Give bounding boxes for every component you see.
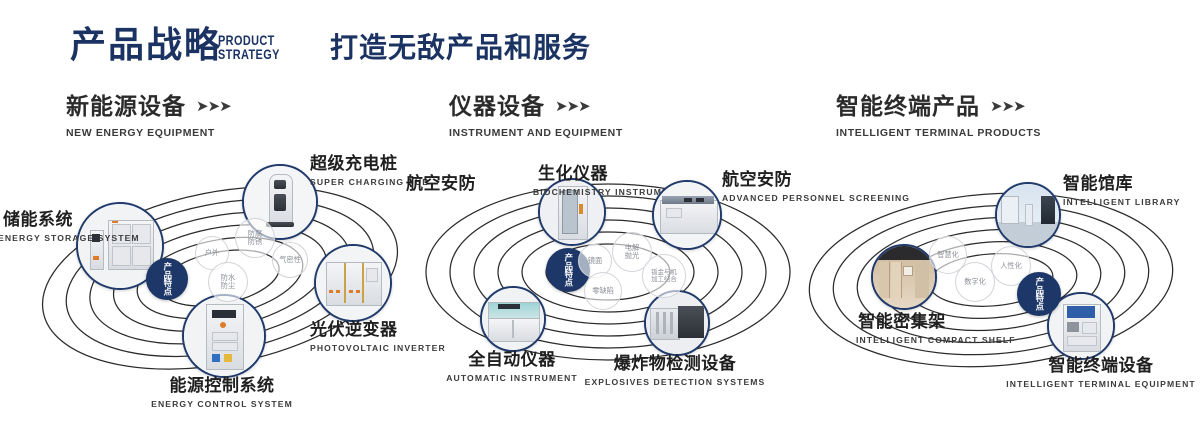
page-title-en-line2: STRATEGY — [218, 47, 280, 61]
feature-bubble-label-t2: 人性化 — [1000, 262, 1022, 270]
feature-bubble-anticorrosion: 防腐防锈 — [235, 218, 275, 258]
label-cn-aviation-security-secondary: 航空安防 — [396, 176, 476, 194]
section-title-cn-0: 新能源设备➤➤➤ — [66, 96, 231, 119]
label-cn-energy-storage-system: 储能系统 — [0, 212, 73, 230]
feature-bubble-zero-defect: 零缺陷 — [584, 272, 622, 310]
label-cn-intelligent-library: 智能馆库 — [1063, 176, 1181, 194]
feature-bubble-label-1: 防腐防锈 — [246, 230, 264, 247]
automatic-instrument-image — [482, 288, 544, 350]
label-cn-energy-control-system: 能源控制系统 — [82, 378, 362, 396]
label-en-intelligent-library: INTELLIGENT LIBRARY — [1063, 197, 1181, 208]
feature-bubble-label-i3: 钣金与机加工结合 — [649, 269, 679, 284]
feature-center-label-terminal: 产品特点 — [1034, 277, 1044, 311]
feature-bubble-label-i0: 镜面 — [588, 257, 602, 265]
label-cn-automatic-instrument: 全自动仪器 — [402, 352, 622, 370]
feature-bubble-label-t0: 智慧化 — [937, 251, 959, 259]
label-en-automatic-instrument: AUTOMATIC INSTRUMENT — [402, 373, 622, 384]
section-title-cn-text-0: 新能源设备 — [66, 94, 186, 120]
photovoltaic-inverter-image — [316, 246, 390, 320]
node-automatic-instrument[interactable] — [480, 286, 546, 352]
section-title-cn-text-1: 仪器设备 — [449, 94, 545, 120]
feature-bubble-label-i2: 零缺陷 — [591, 287, 615, 295]
chevron-right-triple-icon-1: ➤➤➤ — [555, 99, 590, 114]
label-cn-intelligent-compact-shelf: 智能密集架 — [819, 314, 985, 332]
intelligent-compact-shelf-image — [873, 246, 935, 308]
feature-center-product-features[interactable]: 产品特点 — [146, 258, 188, 300]
label-en-biochemistry-instrument: BIOCHEMISTRY INSTRUMENT — [533, 187, 613, 198]
label-en-intelligent-compact-shelf: INTELLIGENT COMPACT SHELF — [856, 335, 948, 346]
feature-center-label: 产品特点 — [162, 262, 172, 296]
node-energy-control-system[interactable] — [182, 294, 266, 378]
feature-bubble-airtightness: 气密性 — [272, 242, 308, 278]
section-title-cn-text-2: 智能终端产品 — [836, 94, 980, 120]
feature-bubble-label-2: 防水防尘 — [219, 274, 237, 291]
advanced-personnel-screening-image — [654, 182, 720, 248]
label-energy-storage-system: 储能系统 ENERGY STORAGE SYSTEM — [0, 212, 73, 244]
section-title-cn-1: 仪器设备➤➤➤ — [449, 96, 623, 119]
explosives-detection-system-image — [646, 292, 708, 354]
energy-control-system-image — [184, 296, 264, 376]
product-strategy-infographic: 产品战略 PRODUCT STRATEGY 打造无敌产品和服务 新能源设备➤➤➤… — [0, 0, 1200, 422]
label-cn-biochemistry-instrument: 生化仪器 — [478, 166, 668, 184]
label-en-energy-storage-system: ENERGY STORAGE SYSTEM — [0, 233, 73, 244]
feature-center-label-instrument: 产品特点 — [563, 253, 573, 287]
label-aviation-security-secondary: 航空安防 — [396, 176, 476, 194]
page-title-en-line1: PRODUCT — [218, 33, 280, 47]
label-intelligent-library: 智能馆库 INTELLIGENT LIBRARY — [1063, 176, 1181, 208]
section-title-en-1: INSTRUMENT AND EQUIPMENT — [449, 127, 623, 139]
feature-bubble-label-3: 气密性 — [279, 256, 301, 264]
node-explosives-detection-system[interactable] — [644, 290, 710, 356]
section-title-cn-2: 智能终端产品➤➤➤ — [836, 96, 1041, 119]
feature-bubble-label-t1: 数字化 — [964, 278, 986, 286]
cluster-new-energy: 储能系统 ENERGY STORAGE SYSTEM 超级充电桩 SUPER C… — [20, 150, 420, 400]
node-photovoltaic-inverter[interactable] — [314, 244, 392, 322]
page-header: 产品战略 PRODUCT STRATEGY 打造无敌产品和服务 — [0, 0, 1200, 86]
label-automatic-instrument: 全自动仪器 AUTOMATIC INSTRUMENT — [402, 352, 622, 384]
page-title-cn: 产品战略 — [70, 28, 222, 64]
feature-center-product-features-terminal[interactable]: 产品特点 — [1017, 272, 1061, 316]
chevron-right-triple-icon-2: ➤➤➤ — [990, 99, 1025, 114]
label-cn-intelligent-terminal-equipment: 智能终端设备 — [991, 358, 1200, 376]
feature-bubble-digitalization: 数字化 — [955, 262, 995, 302]
page-subtitle: 打造无敌产品和服务 — [330, 34, 591, 62]
label-biochemistry-instrument: 生化仪器 BIOCHEMISTRY INSTRUMENT — [478, 166, 668, 198]
intelligent-library-image — [997, 184, 1059, 246]
section-title-en-2: INTELLIGENT TERMINAL PRODUCTS — [836, 127, 1041, 139]
label-intelligent-terminal-equipment: 智能终端设备 INTELLIGENT TERMINAL EQUIPMENT — [991, 358, 1200, 390]
node-intelligent-library[interactable] — [995, 182, 1061, 248]
page-title-en: PRODUCT STRATEGY — [218, 33, 280, 61]
feature-bubble-label-i1: 电解抛光 — [623, 244, 641, 261]
section-header-intelligent-terminal: 智能终端产品➤➤➤ INTELLIGENT TERMINAL PRODUCTS — [836, 96, 1041, 139]
node-advanced-personnel-screening[interactable] — [652, 180, 722, 250]
cluster-instrument: 生化仪器 BIOCHEMISTRY INSTRUMENT 航空安防 航空安防 A… — [410, 150, 810, 400]
feature-bubble-sheetmetal-machining: 钣金与机加工结合 — [642, 254, 686, 298]
section-title-en-0: NEW ENERGY EQUIPMENT — [66, 127, 231, 139]
label-en-energy-control-system: ENERGY CONTROL SYSTEM — [82, 399, 362, 410]
label-intelligent-compact-shelf: 智能密集架 INTELLIGENT COMPACT SHELF — [819, 314, 985, 346]
node-intelligent-compact-shelf[interactable] — [871, 244, 937, 310]
section-header-instrument: 仪器设备➤➤➤ INSTRUMENT AND EQUIPMENT — [449, 96, 623, 139]
label-en-intelligent-terminal-equipment: INTELLIGENT TERMINAL EQUIPMENT — [991, 379, 1200, 390]
chevron-right-triple-icon-0: ➤➤➤ — [196, 99, 231, 114]
section-header-new-energy: 新能源设备➤➤➤ NEW ENERGY EQUIPMENT — [66, 96, 231, 139]
feature-bubble-label-0: 户外 — [205, 249, 219, 257]
label-energy-control-system: 能源控制系统 ENERGY CONTROL SYSTEM — [82, 378, 362, 410]
feature-bubble-waterproof-dustproof: 防水防尘 — [208, 262, 248, 302]
cluster-intelligent-terminal: 智能馆库 INTELLIGENT LIBRARY 智能终端设备 INTELLIG… — [795, 150, 1195, 400]
